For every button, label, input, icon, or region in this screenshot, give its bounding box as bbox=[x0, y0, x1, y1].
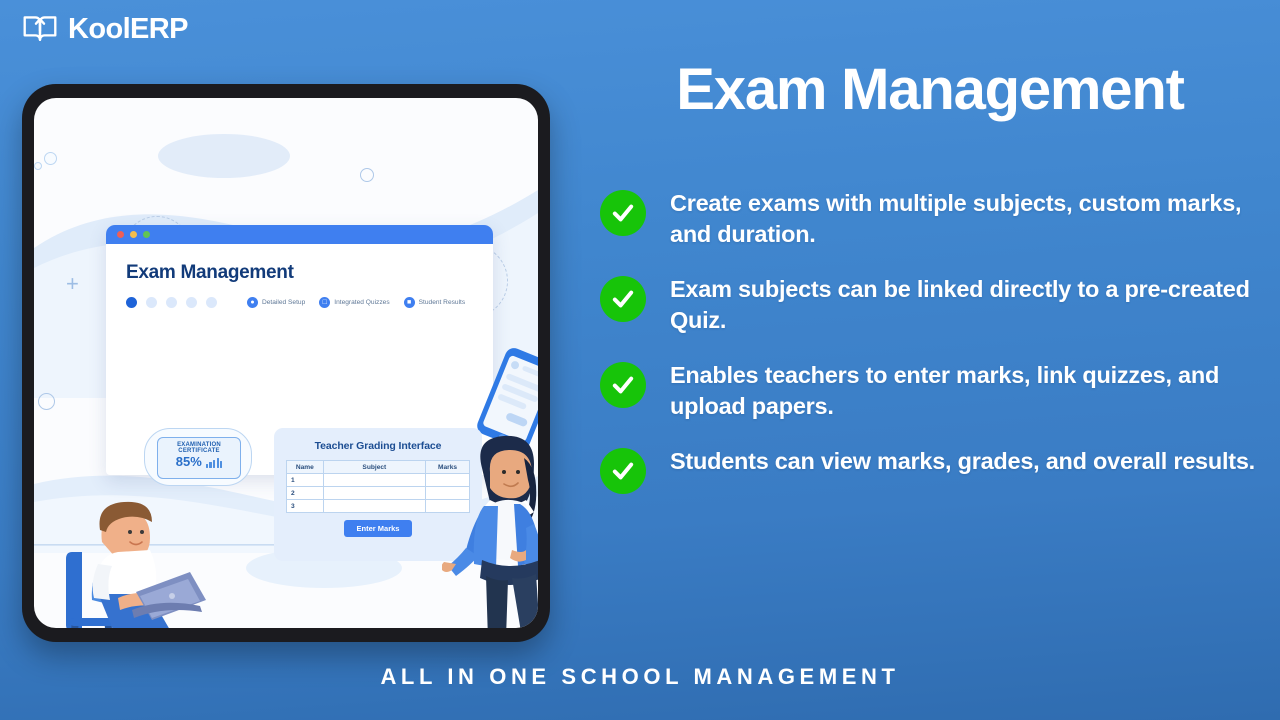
row-index: 3 bbox=[287, 500, 324, 513]
list-item: Students can view marks, grades, and ove… bbox=[600, 446, 1270, 494]
enter-marks-button[interactable]: Enter Marks bbox=[344, 520, 413, 537]
step-dot-4[interactable] bbox=[186, 297, 197, 308]
window-meta-row: ● Detailed Setup □ Integrated Quizzes ■ … bbox=[126, 297, 473, 308]
window-page-title: Exam Management bbox=[126, 262, 473, 284]
small-circle-decoration bbox=[38, 393, 55, 410]
bullet-text: Students can view marks, grades, and ove… bbox=[670, 446, 1255, 477]
footer-tagline: ALL IN ONE SCHOOL MANAGEMENT bbox=[0, 664, 1280, 690]
check-circle-icon bbox=[600, 276, 646, 322]
quiz-box-icon: □ bbox=[319, 297, 330, 308]
student-with-laptop-illustration bbox=[62, 480, 212, 628]
feature-detailed-setup[interactable]: ● Detailed Setup bbox=[247, 297, 305, 308]
step-dot-3[interactable] bbox=[166, 297, 177, 308]
feature-label: Detailed Setup bbox=[262, 299, 305, 306]
feature-student-results[interactable]: ■ Student Results bbox=[404, 297, 466, 308]
teacher-pointing-illustration bbox=[442, 428, 538, 628]
tablet-device-frame: + + Exam Management bbox=[22, 84, 550, 642]
column-header-name: Name bbox=[287, 461, 324, 474]
feature-label: Integrated Quizzes bbox=[334, 299, 389, 306]
plus-decoration: + bbox=[66, 273, 79, 295]
traffic-light-close-icon[interactable] bbox=[117, 231, 124, 238]
step-dot-1[interactable] bbox=[126, 297, 137, 308]
bullet-text: Exam subjects can be linked directly to … bbox=[670, 274, 1270, 335]
bar-chart-icon bbox=[206, 457, 223, 468]
small-circle-decoration bbox=[360, 168, 374, 182]
open-book-upload-icon bbox=[22, 12, 58, 46]
column-header-subject: Subject bbox=[323, 461, 425, 474]
step-dot-2[interactable] bbox=[146, 297, 157, 308]
person-badge-icon: ● bbox=[247, 297, 258, 308]
tablet-screen: + + Exam Management bbox=[34, 98, 538, 628]
certificate-percent: 85% bbox=[176, 455, 202, 468]
speech-bubble-dot-small bbox=[34, 162, 42, 170]
step-indicator-dots[interactable] bbox=[126, 297, 217, 308]
step-dot-5[interactable] bbox=[206, 297, 217, 308]
cell-subject[interactable] bbox=[323, 487, 425, 500]
results-doc-icon: ■ bbox=[404, 297, 415, 308]
browser-content: Exam Management ● Detailed Setup bbox=[106, 244, 493, 308]
cell-subject[interactable] bbox=[323, 500, 425, 513]
feature-label: Student Results bbox=[419, 299, 466, 306]
brand-logo[interactable]: KoolERP bbox=[22, 12, 188, 46]
certificate-speech-bubble: EXAMINATION CERTIFICATE 85% bbox=[144, 428, 252, 486]
cell-subject[interactable] bbox=[323, 474, 425, 487]
row-index: 2 bbox=[287, 487, 324, 500]
list-item: Exam subjects can be linked directly to … bbox=[600, 274, 1270, 335]
speech-bubble-dot-large bbox=[44, 152, 57, 165]
check-circle-icon bbox=[600, 190, 646, 236]
feature-integrated-quizzes[interactable]: □ Integrated Quizzes bbox=[319, 297, 389, 308]
examination-certificate-card: EXAMINATION CERTIFICATE 85% bbox=[157, 437, 241, 479]
bullet-text: Create exams with multiple subjects, cus… bbox=[670, 188, 1270, 249]
browser-title-bar bbox=[106, 225, 493, 244]
traffic-light-minimize-icon[interactable] bbox=[130, 231, 137, 238]
traffic-light-maximize-icon[interactable] bbox=[143, 231, 150, 238]
check-circle-icon bbox=[600, 448, 646, 494]
row-index: 1 bbox=[287, 474, 324, 487]
bullet-text: Enables teachers to enter marks, link qu… bbox=[670, 360, 1270, 421]
list-item: Enables teachers to enter marks, link qu… bbox=[600, 360, 1270, 421]
feature-bullet-list: Create exams with multiple subjects, cus… bbox=[600, 188, 1270, 519]
page-title: Exam Management bbox=[600, 60, 1260, 121]
feature-chip-row: ● Detailed Setup □ Integrated Quizzes ■ … bbox=[247, 297, 465, 308]
check-circle-icon bbox=[600, 362, 646, 408]
brand-name: KoolERP bbox=[68, 15, 188, 44]
list-item: Create exams with multiple subjects, cus… bbox=[600, 188, 1270, 249]
